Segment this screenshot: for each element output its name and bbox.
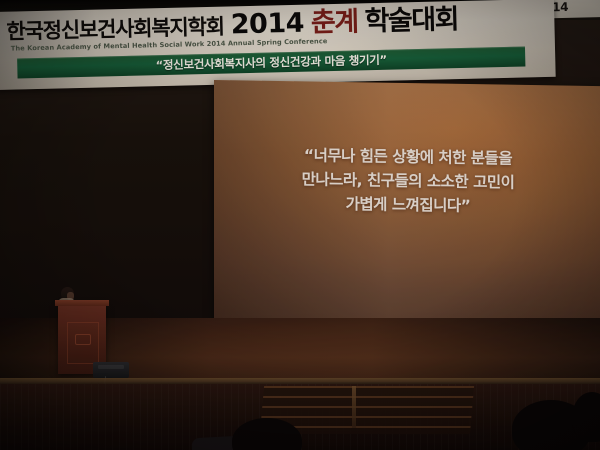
conference-banner: 한국정신보건사회복지학회 2014 춘계 학술대회 The Korean Aca…: [0, 0, 556, 90]
conference-photo: 2014 한국정신보건사회복지학회 2014 춘계 학술대회 The Korea…: [0, 0, 600, 450]
stage-monitor-case: [93, 362, 129, 378]
stage-step-rail: [352, 386, 356, 428]
slide-quote: “너무나 힘든 상황에 처한 분들을 만나느라, 친구들의 소소한 고민이 가볍…: [230, 142, 586, 220]
audience-head-far-right: [572, 392, 600, 442]
projection-screen: “너무나 힘든 상황에 처한 분들을 만나느라, 친구들의 소소한 고민이 가볍…: [214, 80, 600, 334]
banner-organization-name: 한국정신보건사회복지학회: [6, 17, 224, 43]
banner-season: 춘계: [311, 8, 358, 36]
banner-event-type: 학술대회: [364, 6, 458, 35]
podium-top: [55, 300, 109, 306]
banner-year: 2014: [231, 10, 305, 39]
podium-emblem: [75, 334, 91, 345]
slide-quote-line-3: 가볍게 느껴집니다”: [230, 190, 586, 220]
banner-green-band-text: “정신보건사회복지사의 정신건강과 마음 챙기기”: [155, 52, 387, 73]
